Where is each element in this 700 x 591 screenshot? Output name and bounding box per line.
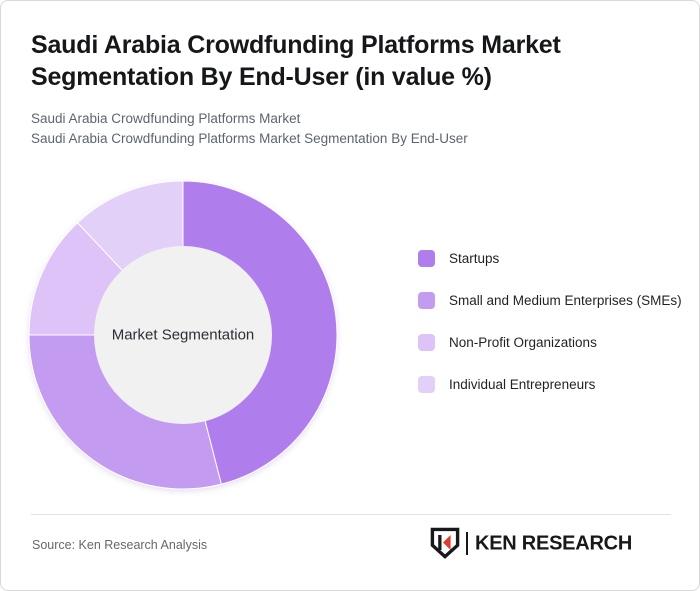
shield-k-icon [430,527,460,559]
legend-item-smes[interactable]: Small and Medium Enterprises (SMEs) [418,291,683,311]
chart-plot-area: Market Segmentation Startups Small and M… [1,161,700,506]
legend-swatch-icon [418,334,435,351]
legend-item-label: Small and Medium Enterprises (SMEs) [449,291,682,311]
footer-divider [31,514,671,515]
page-title: Saudi Arabia Crowdfunding Platforms Mark… [31,29,651,93]
legend-item-label: Startups [449,249,499,269]
ken-research-wordmark: KEN RESEARCH [475,530,671,556]
legend-item-startups[interactable]: Startups [418,249,683,269]
legend-swatch-icon [418,376,435,393]
brand-wordmark-text: KEN RESEARCH [475,533,632,555]
legend-swatch-icon [418,292,435,309]
ken-research-logo: KEN RESEARCH [430,525,671,561]
chart-subtitle-primary: Saudi Arabia Crowdfunding Platforms Mark… [31,109,651,129]
chart-card: Saudi Arabia Crowdfunding Platforms Mark… [0,0,700,591]
legend-item-non-profit-organizations[interactable]: Non-Profit Organizations [418,333,683,353]
chart-legend: Startups Small and Medium Enterprises (S… [418,249,683,395]
legend-item-individual-entrepreneurs[interactable]: Individual Entrepreneurs [418,375,683,395]
chart-subtitle-secondary: Saudi Arabia Crowdfunding Platforms Mark… [31,129,651,149]
legend-swatch-icon [418,250,435,267]
logo-divider [466,532,468,555]
donut-chart-svg: Market Segmentation [29,181,337,489]
donut-chart: Market Segmentation [29,181,337,489]
legend-item-label: Non-Profit Organizations [449,333,597,353]
donut-center-label: Market Segmentation [112,327,255,344]
legend-item-label: Individual Entrepreneurs [449,375,595,395]
source-note: Source: Ken Research Analysis [32,538,207,552]
chart-header: Saudi Arabia Crowdfunding Platforms Mark… [31,29,651,150]
subtitle-group: Saudi Arabia Crowdfunding Platforms Mark… [31,109,651,150]
